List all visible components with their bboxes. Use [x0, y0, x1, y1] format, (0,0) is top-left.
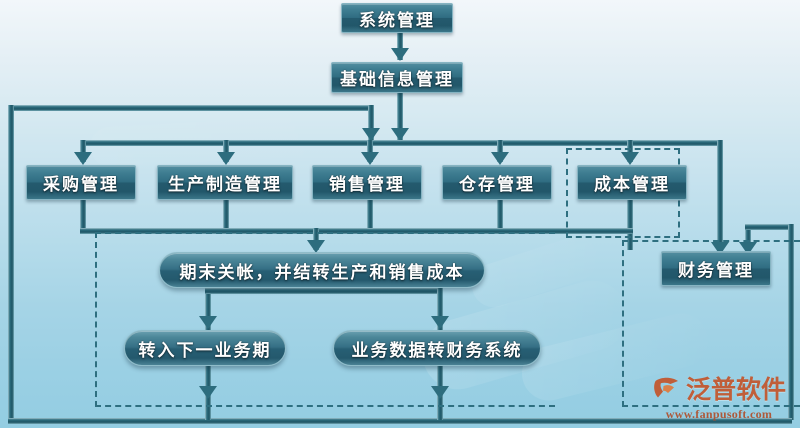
arrowhead-inventory [491, 152, 509, 165]
connector-close-split [205, 288, 441, 294]
arrowhead-next-period [199, 316, 217, 329]
node-inventory-management[interactable]: 仓存管理 [442, 165, 552, 200]
fanpu-swoosh-icon [652, 373, 682, 403]
arrowhead-datatransfer-bottom [431, 386, 449, 399]
arrowhead-data-transfer [431, 316, 449, 329]
node-production-management[interactable]: 生产制造管理 [157, 165, 293, 200]
node-finance-management[interactable]: 财务管理 [661, 251, 771, 286]
frame-top-return-bar [8, 105, 372, 111]
node-cost-management[interactable]: 成本管理 [577, 165, 687, 200]
dashed-region-finance-left [622, 240, 624, 407]
arrowhead-next-bottom [199, 386, 217, 399]
logo-url-text: www.fanpusoft.com [666, 407, 772, 422]
logo-brand-row: 泛普软件 [652, 370, 786, 406]
dashed-region-close-top [95, 232, 555, 234]
node-sales-management[interactable]: 销售管理 [312, 165, 422, 200]
arrowhead-production [217, 152, 235, 165]
node-data-to-finance-system[interactable]: 业务数据转财务系统 [333, 330, 541, 366]
arrowhead-to-basicinfo [391, 48, 409, 61]
rail-to-finance [717, 140, 723, 254]
logo-brand-text: 泛普软件 [686, 370, 786, 406]
diagram-canvas: 系统管理 基础信息管理 采购管理 生产制造管理 销售管理 仓存管理 成本管理 财… [0, 0, 800, 428]
rail-finance-right-top [745, 224, 792, 230]
node-system-management[interactable]: 系统管理 [341, 3, 453, 33]
dashed-region-close-bottom [95, 405, 555, 407]
dashed-region-finance-top [622, 240, 800, 242]
dashed-region-close-left [95, 232, 97, 407]
arrowhead-purchase [74, 152, 92, 165]
node-basic-info-management[interactable]: 基础信息管理 [331, 62, 463, 93]
arrowhead-sales [361, 152, 379, 165]
frame-left-rail [8, 105, 14, 422]
distribution-bar [80, 140, 720, 146]
fanpu-logo[interactable]: 泛普软件 www.fanpusoft.com [644, 370, 794, 422]
node-period-close[interactable]: 期末关帐，并结转生产和销售成本 [159, 252, 485, 288]
background-watermark-shape [466, 231, 603, 313]
node-next-business-period[interactable]: 转入下一业务期 [124, 330, 286, 366]
node-purchase-management[interactable]: 采购管理 [26, 165, 136, 200]
